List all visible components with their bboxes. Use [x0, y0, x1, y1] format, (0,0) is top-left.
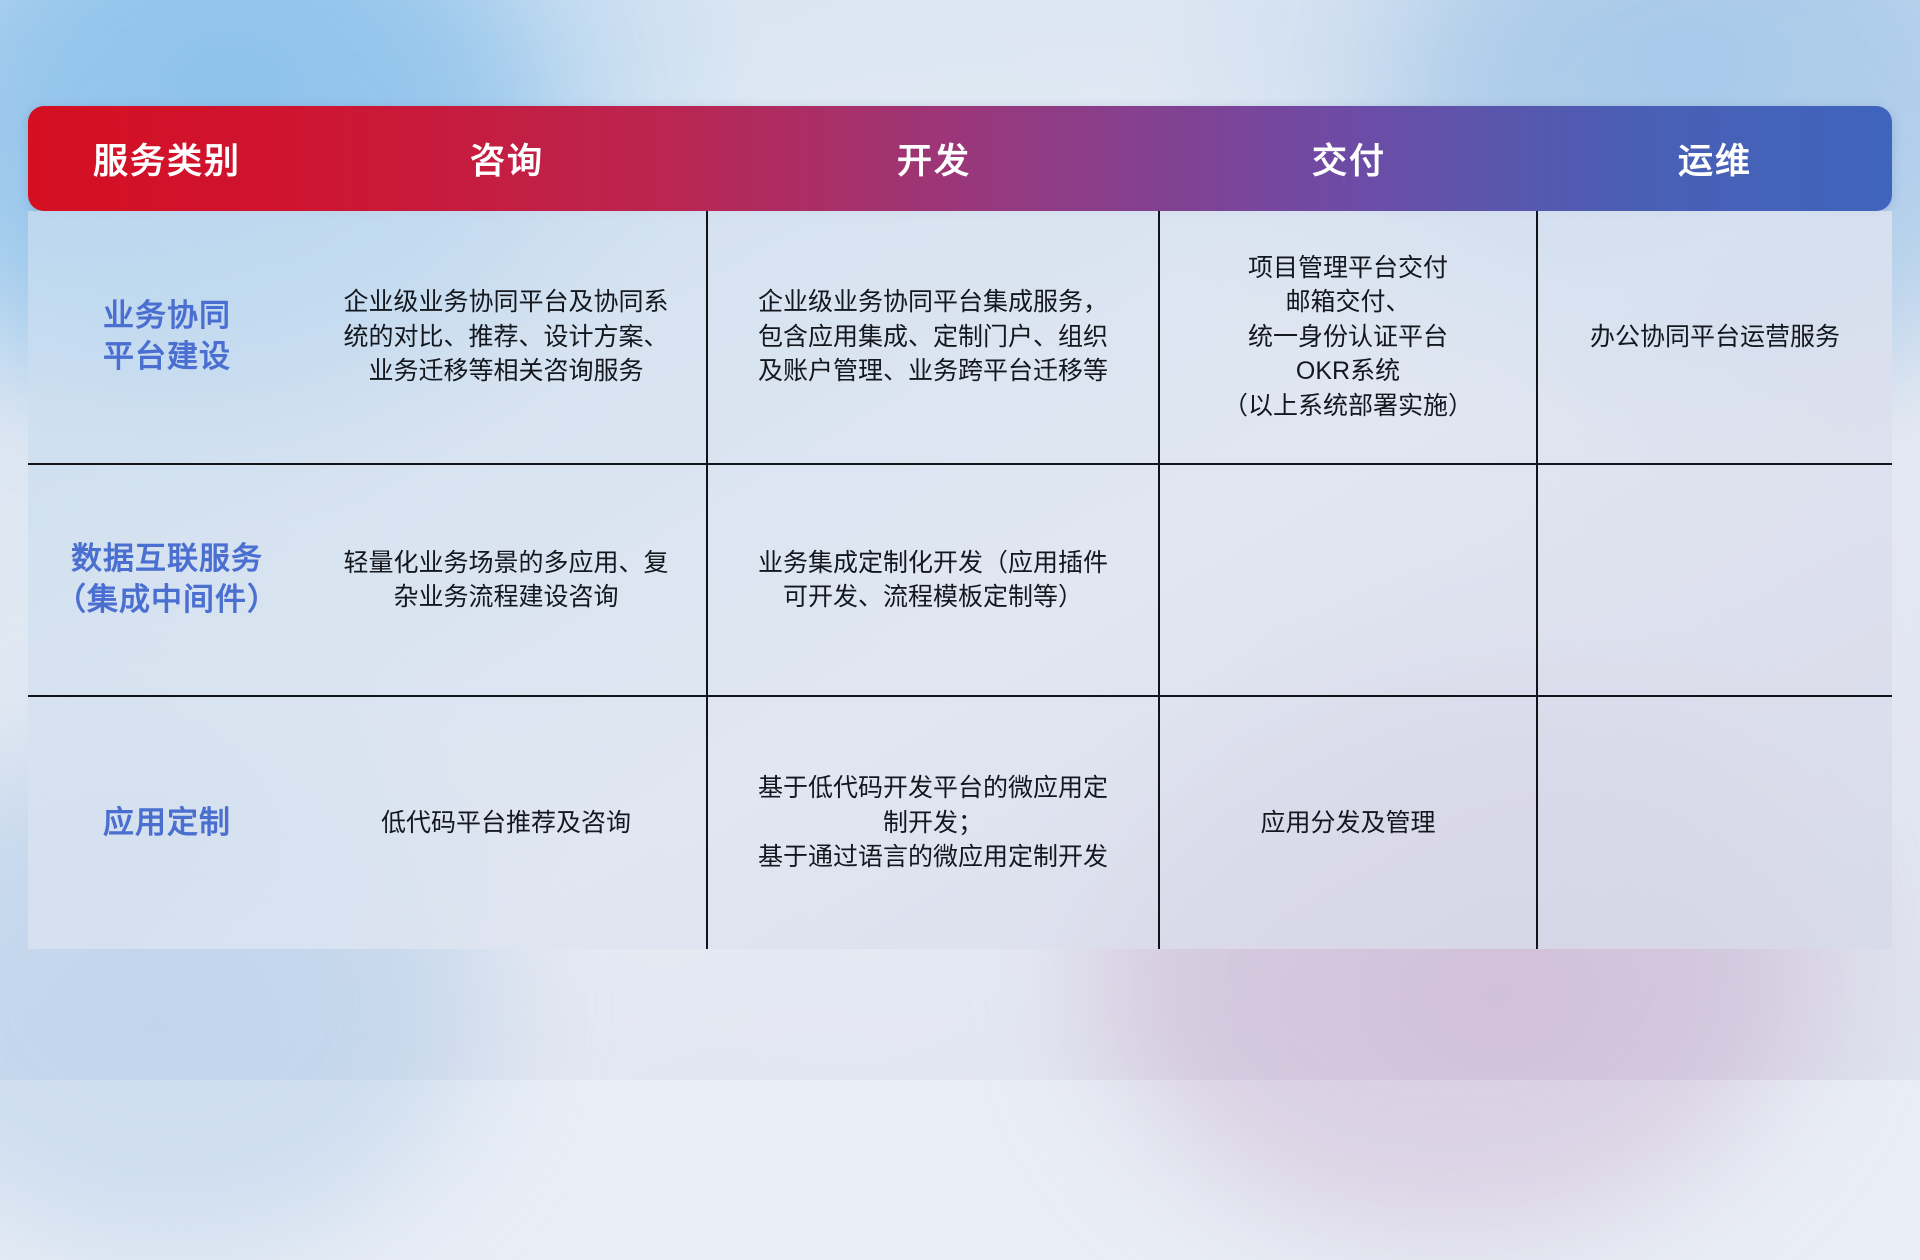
row-consulting-cell: 低代码平台推荐及咨询 [306, 697, 708, 949]
row-category-cell: 应用定制 [28, 697, 306, 949]
table-row: 应用定制 低代码平台推荐及咨询 基于低代码开发平台的微应用定 制开发； 基于通过… [28, 697, 1892, 949]
row-category-cell: 业务协同 平台建设 [28, 211, 306, 463]
table-row: 业务协同 平台建设 企业级业务协同平台及协同系 统的对比、推荐、设计方案、 业务… [28, 211, 1892, 465]
row-delivery-cell: 项目管理平台交付 邮箱交付、 统一身份认证平台 OKR系统 （以上系统部署实施） [1160, 211, 1538, 463]
column-header-operations-label: 运维 [1678, 133, 1752, 184]
table-row: 数据互联服务 （集成中间件） 轻量化业务场景的多应用、复 杂业务流程建设咨询 业… [28, 465, 1892, 698]
column-header-category-label: 服务类别 [93, 133, 241, 184]
column-header-development: 开发 [708, 106, 1160, 211]
row-development-text: 基于低代码开发平台的微应用定 制开发； 基于通过语言的微应用定制开发 [758, 771, 1108, 875]
row-operations-cell [1538, 465, 1892, 696]
row-development-text: 业务集成定制化开发（应用插件 可开发、流程模板定制等） [758, 546, 1108, 615]
row-category-label: 应用定制 [103, 803, 231, 844]
row-category-label: 业务协同 平台建设 [103, 296, 231, 378]
row-development-cell: 业务集成定制化开发（应用插件 可开发、流程模板定制等） [708, 465, 1160, 696]
row-development-text: 企业级业务协同平台集成服务， 包含应用集成、定制门户、组织 及账户管理、业务跨平… [758, 285, 1108, 389]
row-consulting-text: 低代码平台推荐及咨询 [381, 806, 631, 841]
row-category-cell: 数据互联服务 （集成中间件） [28, 465, 306, 696]
row-consulting-text: 企业级业务协同平台及协同系 统的对比、推荐、设计方案、 业务迁移等相关咨询服务 [343, 285, 668, 389]
row-category-label: 数据互联服务 （集成中间件） [55, 539, 279, 621]
row-operations-cell [1538, 697, 1892, 949]
row-consulting-cell: 企业级业务协同平台及协同系 统的对比、推荐、设计方案、 业务迁移等相关咨询服务 [306, 211, 708, 463]
column-header-delivery: 交付 [1160, 106, 1538, 211]
row-delivery-text: 项目管理平台交付 邮箱交付、 统一身份认证平台 OKR系统 （以上系统部署实施） [1223, 251, 1473, 424]
row-development-cell: 基于低代码开发平台的微应用定 制开发； 基于通过语言的微应用定制开发 [708, 697, 1160, 949]
table-header-row: 服务类别 咨询 开发 交付 运维 [28, 106, 1892, 211]
column-header-development-label: 开发 [897, 133, 971, 184]
row-operations-text: 办公协同平台运营服务 [1590, 320, 1840, 355]
row-consulting-cell: 轻量化业务场景的多应用、复 杂业务流程建设咨询 [306, 465, 708, 696]
table-body: 业务协同 平台建设 企业级业务协同平台及协同系 统的对比、推荐、设计方案、 业务… [28, 211, 1892, 949]
column-header-consulting-label: 咨询 [470, 133, 544, 184]
row-delivery-text: 应用分发及管理 [1260, 806, 1435, 841]
row-delivery-cell: 应用分发及管理 [1160, 697, 1538, 949]
row-delivery-cell [1160, 465, 1538, 696]
column-header-consulting: 咨询 [306, 106, 708, 211]
column-header-delivery-label: 交付 [1312, 133, 1386, 184]
row-consulting-text: 轻量化业务场景的多应用、复 杂业务流程建设咨询 [343, 546, 668, 615]
slide-canvas: 服务类别 咨询 开发 交付 运维 业务协同 平台建设 企业级业务协同平台及协同系… [0, 0, 1920, 1080]
column-header-category: 服务类别 [28, 106, 306, 211]
row-development-cell: 企业级业务协同平台集成服务， 包含应用集成、定制门户、组织 及账户管理、业务跨平… [708, 211, 1160, 463]
column-header-operations: 运维 [1538, 106, 1892, 211]
row-operations-cell: 办公协同平台运营服务 [1538, 211, 1892, 463]
